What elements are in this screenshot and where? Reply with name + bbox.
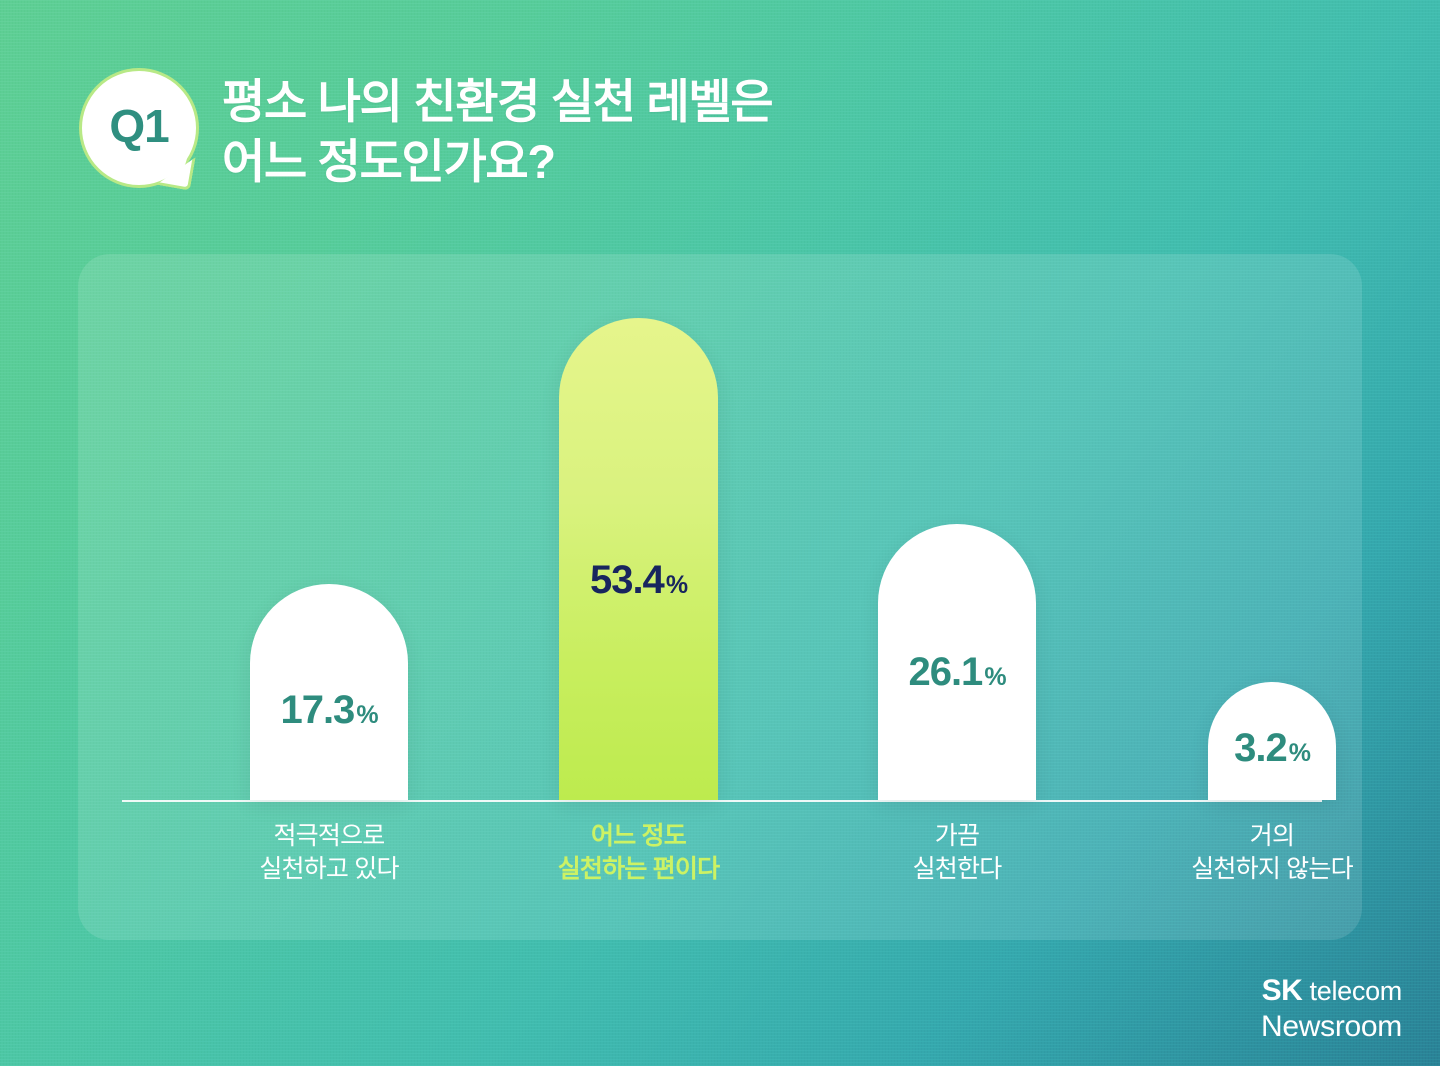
bar-value-number-4: 3.2 [1234, 728, 1287, 768]
bar-column-3: 26.1 % [878, 524, 1036, 800]
infographic-canvas: Q1 평소 나의 친환경 실천 레벨은 어느 정도인가요? 17.3 % 적극적… [0, 0, 1440, 1066]
logo-brand-line: SK telecom [1261, 973, 1402, 1008]
bar-value-3: 26.1 % [908, 652, 1005, 692]
bar-3[interactable]: 26.1 % [878, 524, 1036, 800]
axis-label-4: 거의 실천하지 않는다 [1127, 820, 1417, 886]
axis-label-2: 어느 정도 실천하는 편이다 [509, 820, 768, 886]
bar-value-number-3: 26.1 [908, 652, 982, 692]
bar-value-number-1: 17.3 [280, 690, 354, 730]
bar-4[interactable]: 3.2 % [1208, 682, 1336, 800]
bar-2[interactable]: 53.4 % [559, 318, 718, 800]
logo-sk-text: SK [1262, 974, 1303, 1007]
question-number-badge: Q1 [79, 68, 199, 188]
bar-value-percent-1: % [356, 703, 377, 728]
bar-value-percent-2: % [666, 573, 687, 598]
bar-column-1: 17.3 % [250, 584, 408, 800]
bar-value-4: 3.2 % [1234, 728, 1310, 768]
axis-label-1: 적극적으로 실천하고 있다 [200, 820, 458, 886]
bar-1[interactable]: 17.3 % [250, 584, 408, 800]
axis-label-3: 가끔 실천한다 [828, 820, 1086, 886]
bar-value-percent-3: % [984, 665, 1005, 690]
bar-column-2: 53.4 % [559, 318, 718, 800]
bar-value-2: 53.4 % [590, 560, 687, 600]
sk-telecom-newsroom-logo: SK telecom Newsroom [1261, 973, 1402, 1044]
page-title: 평소 나의 친환경 실천 레벨은 어느 정도인가요? [222, 72, 772, 192]
bar-value-1: 17.3 % [280, 690, 377, 730]
bar-value-percent-4: % [1289, 741, 1310, 766]
bar-chart: 17.3 % 적극적으로 실천하고 있다 53.4 % 어느 정도 실천하는 편… [78, 254, 1362, 940]
question-number-label: Q1 [79, 68, 199, 188]
bar-column-4: 3.2 % [1208, 682, 1336, 800]
bar-value-number-2: 53.4 [590, 560, 664, 600]
chart-baseline [122, 800, 1322, 802]
header: Q1 평소 나의 친환경 실천 레벨은 어느 정도인가요? [0, 0, 1440, 240]
logo-newsroom-text: Newsroom [1261, 1009, 1402, 1044]
logo-telecom-text: telecom [1302, 976, 1402, 1006]
